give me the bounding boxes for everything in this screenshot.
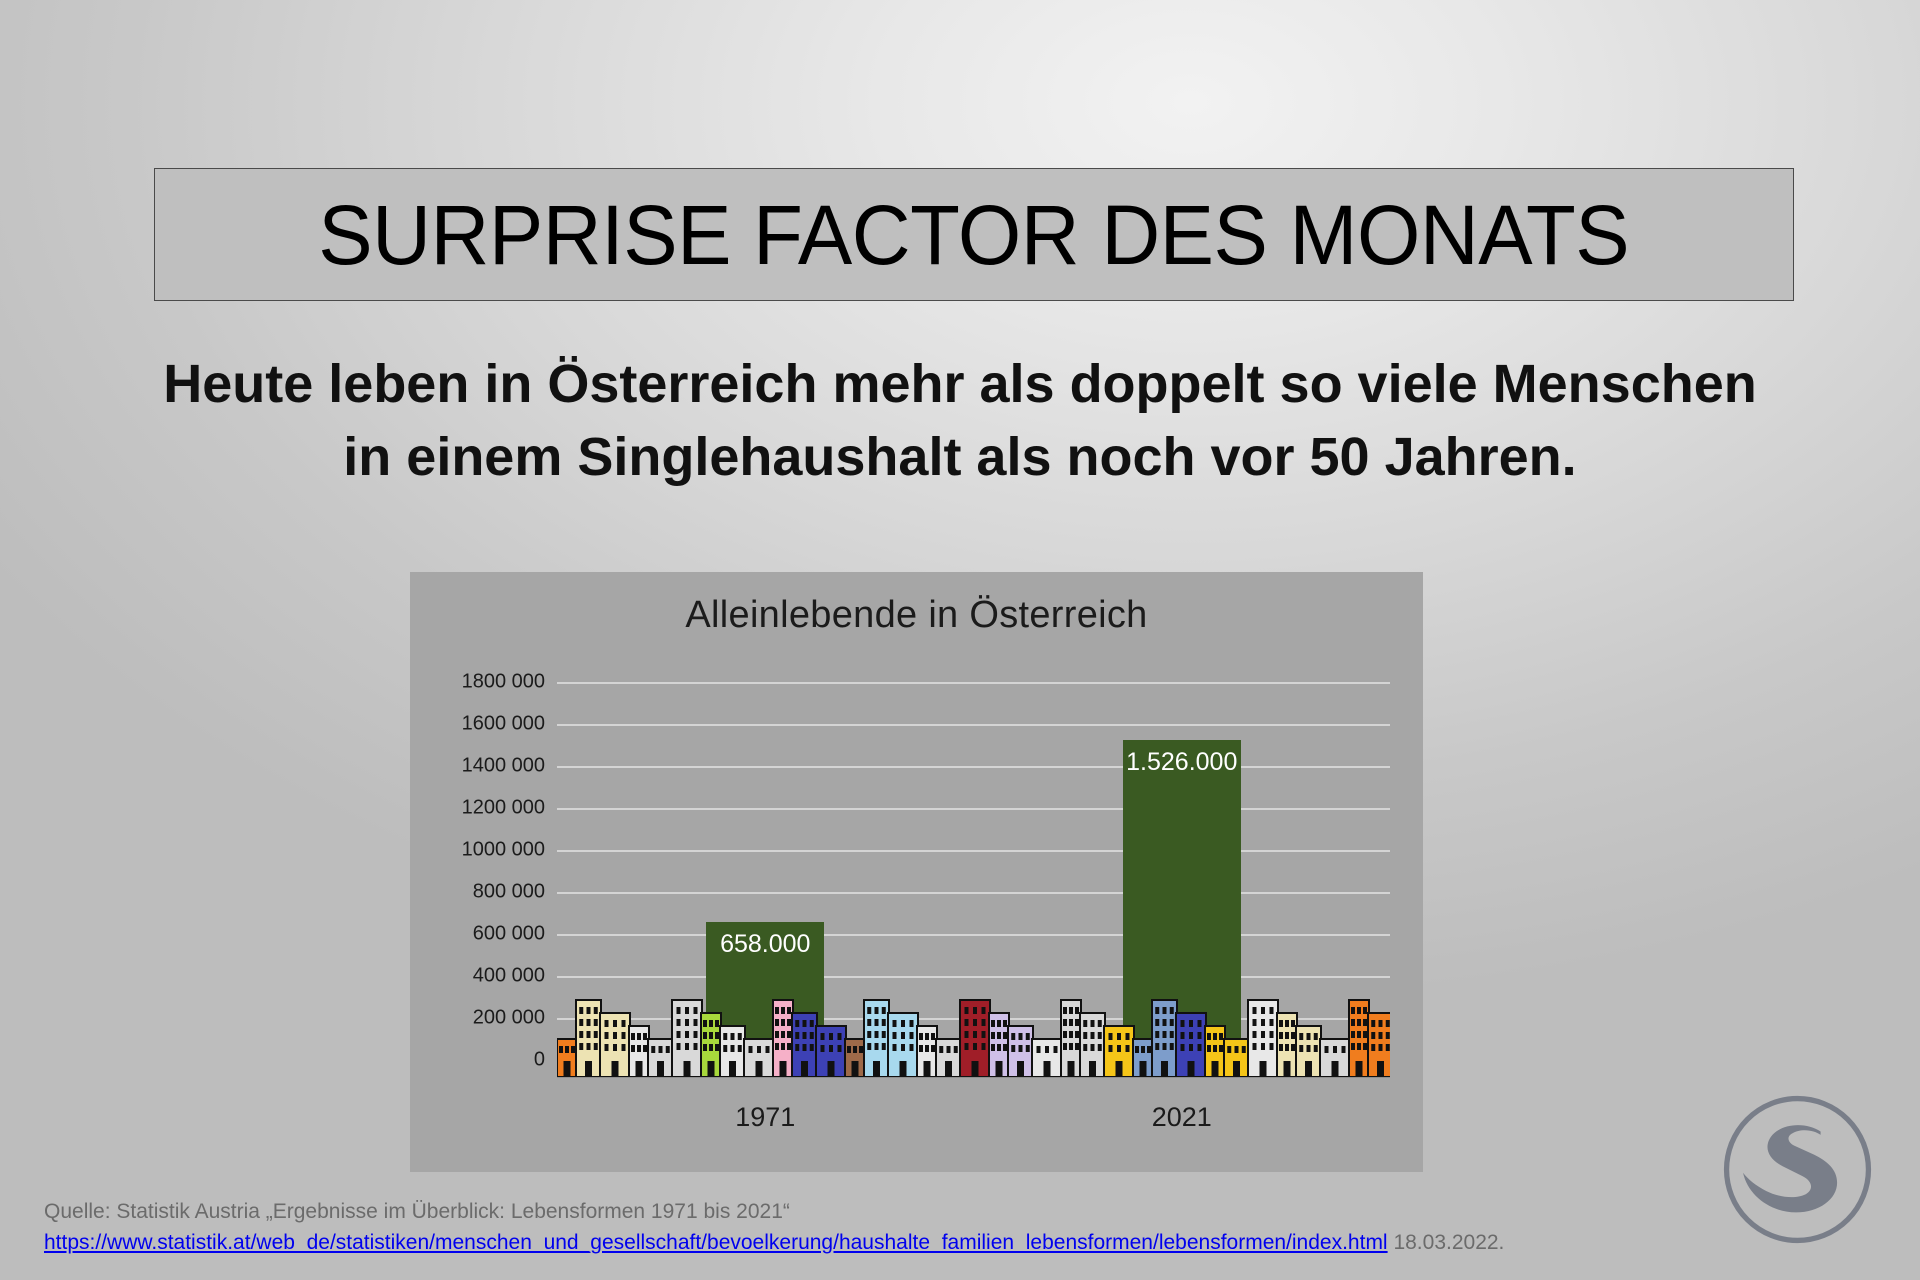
gridline: 1800 000 — [557, 682, 1390, 684]
building-window — [1063, 1007, 1067, 1014]
building-window — [1098, 1032, 1102, 1039]
building-window — [1379, 1032, 1383, 1039]
building-window — [1253, 1031, 1257, 1038]
y-axis-tick-label: 1800 000 — [462, 671, 545, 694]
y-axis-tick-label: 400 000 — [473, 965, 545, 988]
building-window — [1141, 1046, 1145, 1053]
building-window — [1198, 1020, 1202, 1027]
building-window — [1207, 1045, 1211, 1052]
building-window — [1285, 1032, 1289, 1039]
building-window — [1371, 1020, 1375, 1027]
building-window — [1342, 1046, 1346, 1053]
building-window — [901, 1044, 905, 1051]
building-window — [1299, 1045, 1303, 1052]
building-window — [781, 1043, 785, 1050]
building-window — [622, 1032, 626, 1039]
building-window — [1155, 1043, 1159, 1050]
building-window — [1261, 1019, 1265, 1026]
building-window — [1170, 1043, 1174, 1050]
building-door — [1284, 1061, 1291, 1077]
building-window — [910, 1032, 914, 1039]
building-window — [982, 1007, 986, 1014]
building-door — [873, 1061, 880, 1077]
building-window — [666, 1046, 670, 1053]
building-door — [564, 1061, 571, 1077]
building-window — [1299, 1033, 1303, 1040]
building-window — [982, 1043, 986, 1050]
building-window — [715, 1032, 719, 1039]
building-door — [585, 1061, 592, 1077]
building-window — [997, 1032, 1001, 1039]
building-window — [901, 1032, 905, 1039]
building-window — [1069, 1043, 1073, 1050]
building-window — [1261, 1031, 1265, 1038]
building-door — [708, 1061, 715, 1077]
building-window — [931, 1033, 935, 1040]
y-axis-tick-label: 800 000 — [473, 881, 545, 904]
building-window — [703, 1044, 707, 1051]
building-window — [723, 1033, 727, 1040]
source-accessed-date: 18.03.2022. — [1388, 1231, 1505, 1254]
building-window — [723, 1045, 727, 1052]
subtitle-line-2: in einem Singlehaushalt als noch vor 50 … — [40, 421, 1880, 494]
building-window — [838, 1033, 842, 1040]
building-window — [1379, 1020, 1383, 1027]
building-window — [605, 1044, 609, 1051]
building-window — [1291, 1032, 1295, 1039]
building-window — [1069, 1019, 1073, 1026]
building-window — [1003, 1020, 1007, 1027]
building-window — [1181, 1020, 1185, 1027]
building-window — [931, 1045, 935, 1052]
building-window — [803, 1020, 807, 1027]
building-window — [867, 1043, 871, 1050]
building-window — [965, 1019, 969, 1026]
building-window — [1083, 1020, 1087, 1027]
building-window — [821, 1033, 825, 1040]
building-window — [731, 1033, 735, 1040]
building-door — [636, 1061, 643, 1077]
building-door — [1116, 1061, 1123, 1077]
source-url-link[interactable]: https://www.statistik.at/web_de/statisti… — [44, 1231, 1388, 1254]
gridline: 1400 000 — [557, 766, 1390, 768]
building-window — [1181, 1044, 1185, 1051]
building-window — [1333, 1046, 1337, 1053]
gridline: 1000 000 — [557, 850, 1390, 852]
gridline: 600 000 — [557, 934, 1390, 936]
building-window — [685, 1031, 689, 1038]
building-window — [1135, 1046, 1139, 1053]
building-window — [651, 1046, 655, 1053]
x-axis-category-label: 2021 — [1102, 1102, 1262, 1133]
building-window — [867, 1031, 871, 1038]
building-window — [1357, 1043, 1361, 1050]
building-window — [1363, 1043, 1367, 1050]
building-window — [1253, 1007, 1257, 1014]
building-window — [1363, 1019, 1367, 1026]
building-window — [1083, 1044, 1087, 1051]
building-window — [1019, 1045, 1023, 1052]
building-window — [1155, 1031, 1159, 1038]
building-window — [875, 1019, 879, 1026]
building-window — [1314, 1033, 1318, 1040]
building-window — [715, 1044, 719, 1051]
building-window — [847, 1046, 851, 1053]
building-window — [1075, 1019, 1079, 1026]
building-window — [738, 1033, 742, 1040]
building-door — [945, 1061, 952, 1077]
building-door — [828, 1061, 835, 1077]
building-window — [882, 1031, 886, 1038]
building-window — [631, 1045, 635, 1052]
building-window — [1213, 1033, 1217, 1040]
building-window — [1126, 1045, 1130, 1052]
building-window — [973, 1007, 977, 1014]
building-window — [882, 1019, 886, 1026]
building-window — [1363, 1007, 1367, 1014]
building-window — [1063, 1019, 1067, 1026]
building-window — [637, 1045, 641, 1052]
building-window — [1270, 1007, 1274, 1014]
building-window — [1109, 1033, 1113, 1040]
building-door — [780, 1061, 787, 1077]
building-window — [1351, 1043, 1355, 1050]
building-window — [703, 1020, 707, 1027]
building-window — [859, 1046, 863, 1053]
subtitle: Heute leben in Österreich mehr als doppe… — [40, 348, 1880, 495]
building-window — [1147, 1046, 1151, 1053]
chart-panel: Alleinlebende in Österreich 0200 000400 … — [410, 572, 1423, 1172]
building-window — [1091, 1032, 1095, 1039]
building-window — [1026, 1045, 1030, 1052]
building-window — [875, 1043, 879, 1050]
building-window — [1371, 1032, 1375, 1039]
building-door — [1233, 1061, 1240, 1077]
building-window — [1011, 1033, 1015, 1040]
y-axis-tick-label: 1600 000 — [462, 713, 545, 736]
y-axis-tick-label: 0 — [534, 1049, 545, 1072]
gridline: 800 000 — [557, 892, 1390, 894]
building-window — [1270, 1043, 1274, 1050]
building-window — [875, 1031, 879, 1038]
building-window — [910, 1020, 914, 1027]
building-window — [613, 1044, 617, 1051]
building-window — [997, 1044, 1001, 1051]
building-window — [1219, 1045, 1223, 1052]
building-window — [781, 1031, 785, 1038]
building-window — [1325, 1046, 1329, 1053]
title-box: SURPRISE FACTOR DES MONATS — [154, 168, 1794, 301]
building-window — [738, 1045, 742, 1052]
building-window — [1069, 1031, 1073, 1038]
building-door — [801, 1061, 808, 1077]
building-door — [729, 1061, 736, 1077]
building-window — [829, 1045, 833, 1052]
building-window — [1357, 1031, 1361, 1038]
building-window — [1351, 1019, 1355, 1026]
building-window — [1227, 1046, 1231, 1053]
building-door — [1188, 1061, 1195, 1077]
building-window — [775, 1019, 779, 1026]
building-window — [1075, 1031, 1079, 1038]
building-window — [910, 1044, 914, 1051]
building-window — [1235, 1046, 1239, 1053]
building-door — [684, 1061, 691, 1077]
building-window — [579, 1019, 583, 1026]
building-door — [1332, 1061, 1339, 1077]
building-door — [657, 1061, 664, 1077]
y-axis-tick-label: 1000 000 — [462, 839, 545, 862]
building-window — [1117, 1033, 1121, 1040]
building-window — [973, 1031, 977, 1038]
building-window — [982, 1031, 986, 1038]
building-door — [1161, 1061, 1168, 1077]
building-window — [1386, 1020, 1390, 1027]
building-window — [1198, 1044, 1202, 1051]
building-door — [1017, 1061, 1024, 1077]
building-window — [1351, 1007, 1355, 1014]
building-window — [1189, 1020, 1193, 1027]
building-window — [579, 1043, 583, 1050]
building-window — [1117, 1045, 1121, 1052]
building-window — [594, 1043, 598, 1050]
building-window — [1091, 1020, 1095, 1027]
building-window — [622, 1020, 626, 1027]
building-door — [612, 1061, 619, 1077]
building-window — [731, 1045, 735, 1052]
building-window — [965, 1031, 969, 1038]
gridline: 1200 000 — [557, 808, 1390, 810]
building-window — [613, 1020, 617, 1027]
building-window — [1098, 1044, 1102, 1051]
building-window — [775, 1007, 779, 1014]
building-window — [709, 1032, 713, 1039]
building-window — [1003, 1044, 1007, 1051]
building-window — [795, 1044, 799, 1051]
building-window — [1189, 1032, 1193, 1039]
building-window — [1163, 1007, 1167, 1014]
building-window — [1291, 1020, 1295, 1027]
building-door — [1140, 1061, 1147, 1077]
building-window — [587, 1007, 591, 1014]
building-window — [821, 1045, 825, 1052]
building-window — [631, 1033, 635, 1040]
building-window — [1019, 1033, 1023, 1040]
building-window — [1075, 1007, 1079, 1014]
building-window — [1279, 1044, 1283, 1051]
building-window — [749, 1046, 753, 1053]
source-citation: Quelle: Statistik Austria „Ergebnisse im… — [44, 1197, 1504, 1227]
building-window — [838, 1045, 842, 1052]
building-window — [893, 1044, 897, 1051]
building-window — [677, 1043, 681, 1050]
building-window — [643, 1033, 647, 1040]
building-window — [694, 1007, 698, 1014]
building-window — [867, 1007, 871, 1014]
building-window — [1371, 1044, 1375, 1051]
building-window — [1189, 1044, 1193, 1051]
building-door — [972, 1061, 979, 1077]
building-window — [882, 1007, 886, 1014]
skyline-illustration — [557, 985, 1390, 1077]
building-window — [1037, 1046, 1041, 1053]
building-window — [947, 1046, 951, 1053]
building-window — [594, 1019, 598, 1026]
building-window — [1213, 1045, 1217, 1052]
building-window — [1291, 1044, 1295, 1051]
building-window — [1003, 1032, 1007, 1039]
building-window — [1163, 1043, 1167, 1050]
building-window — [637, 1033, 641, 1040]
building-window — [694, 1019, 698, 1026]
building-window — [1126, 1033, 1130, 1040]
building-window — [1098, 1020, 1102, 1027]
building-window — [810, 1044, 814, 1051]
building-window — [810, 1020, 814, 1027]
building-window — [795, 1020, 799, 1027]
building-window — [1242, 1046, 1246, 1053]
building-window — [1253, 1019, 1257, 1026]
building-window — [1163, 1019, 1167, 1026]
building-window — [829, 1033, 833, 1040]
building-window — [781, 1019, 785, 1026]
building-window — [991, 1032, 995, 1039]
building-window — [694, 1031, 698, 1038]
building-window — [685, 1019, 689, 1026]
y-axis-tick-label: 1400 000 — [462, 755, 545, 778]
building-window — [1307, 1033, 1311, 1040]
building-window — [1155, 1007, 1159, 1014]
building-window — [893, 1032, 897, 1039]
building-window — [709, 1020, 713, 1027]
building-door — [852, 1061, 859, 1077]
building-window — [1253, 1043, 1257, 1050]
building-door — [924, 1061, 931, 1077]
building-window — [659, 1046, 663, 1053]
slide-canvas: SURPRISE FACTOR DES MONATS Heute leben i… — [0, 0, 1920, 1280]
building-window — [587, 1019, 591, 1026]
building-window — [893, 1020, 897, 1027]
building-window — [1279, 1020, 1283, 1027]
building-window — [1351, 1031, 1355, 1038]
building-window — [991, 1020, 995, 1027]
y-axis-tick-label: 200 000 — [473, 1007, 545, 1030]
building-window — [1170, 1019, 1174, 1026]
building-window — [677, 1019, 681, 1026]
building-window — [919, 1033, 923, 1040]
building-window — [559, 1046, 563, 1053]
building-window — [882, 1043, 886, 1050]
building-window — [787, 1019, 791, 1026]
building-window — [1083, 1032, 1087, 1039]
building-window — [1357, 1007, 1361, 1014]
building-window — [685, 1007, 689, 1014]
building-window — [594, 1007, 598, 1014]
building-window — [766, 1046, 770, 1053]
building-window — [973, 1019, 977, 1026]
building-window — [787, 1043, 791, 1050]
building-window — [954, 1046, 958, 1053]
building-window — [795, 1032, 799, 1039]
building-window — [803, 1044, 807, 1051]
building-window — [787, 1007, 791, 1014]
building-window — [1063, 1031, 1067, 1038]
source-url-line: https://www.statistik.at/web_de/statisti… — [44, 1228, 1504, 1258]
building-window — [571, 1046, 575, 1053]
building-window — [1379, 1044, 1383, 1051]
building-window — [1170, 1007, 1174, 1014]
building-door — [900, 1061, 907, 1077]
building-door — [1260, 1061, 1267, 1077]
building-window — [1285, 1044, 1289, 1051]
building-door — [1089, 1061, 1096, 1077]
building-window — [622, 1044, 626, 1051]
building-window — [781, 1007, 785, 1014]
building-door — [1212, 1061, 1219, 1077]
building-window — [939, 1046, 943, 1053]
building-door — [1356, 1061, 1363, 1077]
building-window — [925, 1033, 929, 1040]
skyline-svg — [557, 985, 1390, 1077]
building-window — [965, 1007, 969, 1014]
building-window — [982, 1019, 986, 1026]
building-window — [803, 1032, 807, 1039]
chart-title: Alleinlebende in Österreich — [410, 594, 1423, 637]
building-window — [1207, 1033, 1211, 1040]
building-door — [1068, 1061, 1075, 1077]
building-window — [1285, 1020, 1289, 1027]
building-window — [1181, 1032, 1185, 1039]
building-window — [1279, 1032, 1283, 1039]
building-window — [1386, 1044, 1390, 1051]
building-window — [1261, 1043, 1265, 1050]
building-window — [694, 1043, 698, 1050]
building-window — [1357, 1019, 1361, 1026]
building-door — [1377, 1061, 1384, 1077]
building-window — [775, 1031, 779, 1038]
page-title: SURPRISE FACTOR DES MONATS — [319, 193, 1630, 277]
source-footer: Quelle: Statistik Austria „Ergebnisse im… — [44, 1197, 1504, 1258]
bar-value-label: 658.000 — [706, 930, 824, 959]
building-window — [605, 1032, 609, 1039]
building-window — [1363, 1031, 1367, 1038]
gridline: 1600 000 — [557, 724, 1390, 726]
building-window — [613, 1032, 617, 1039]
building-window — [1075, 1043, 1079, 1050]
building-window — [1045, 1046, 1049, 1053]
building-window — [1307, 1045, 1311, 1052]
building-window — [757, 1046, 761, 1053]
building-window — [1063, 1043, 1067, 1050]
building-window — [1386, 1032, 1390, 1039]
bar-value-label: 1.526.000 — [1123, 748, 1241, 777]
building-window — [991, 1044, 995, 1051]
building-window — [1026, 1033, 1030, 1040]
building-window — [1270, 1031, 1274, 1038]
building-window — [587, 1031, 591, 1038]
building-window — [579, 1031, 583, 1038]
building-window — [1198, 1032, 1202, 1039]
swan-logo-icon — [1715, 1087, 1880, 1252]
building-door — [996, 1061, 1003, 1077]
building-door — [1044, 1061, 1051, 1077]
building-window — [1091, 1044, 1095, 1051]
gridline: 400 000 — [557, 976, 1390, 978]
building-window — [1163, 1031, 1167, 1038]
building-window — [1314, 1045, 1318, 1052]
building-window — [925, 1045, 929, 1052]
building-window — [685, 1043, 689, 1050]
